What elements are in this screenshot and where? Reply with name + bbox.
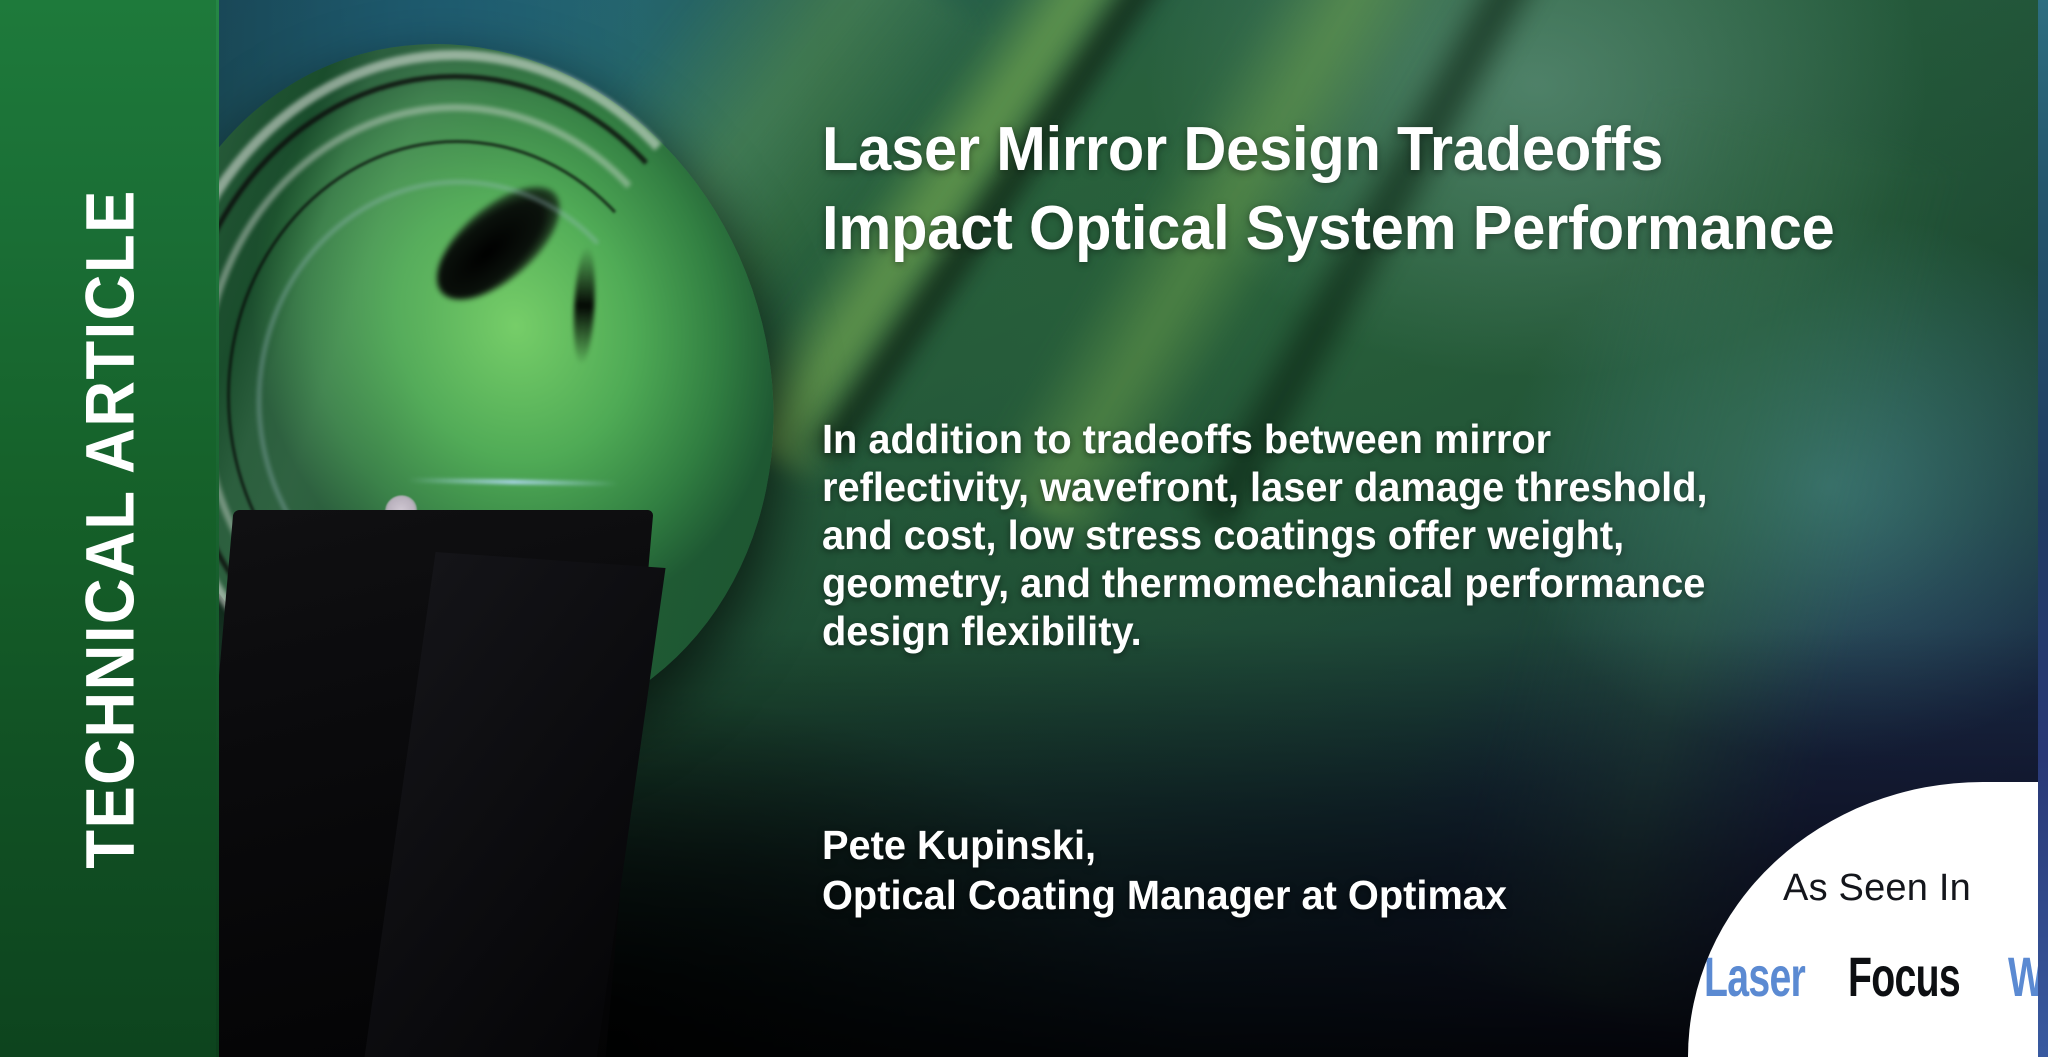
optic-reflection-streak [571, 246, 597, 365]
article-summary: In addition to tradeoffs between mirror … [822, 415, 1908, 655]
logo-word-world: World [2008, 949, 2038, 1005]
page-title-line-1: Laser Mirror Design Tradeoffs [822, 110, 1835, 189]
author-role: Optical Coating Manager at Optimax [822, 870, 1507, 920]
article-summary-line-1: In addition to tradeoffs between mirror [822, 415, 1908, 463]
optic-reflection-dark [418, 167, 578, 320]
rail-label: TECHNICAL ARTICLE [70, 189, 149, 868]
logo-word-laser: Laser [1704, 949, 1805, 1005]
author-byline: Pete Kupinski, Optical Coating Manager a… [822, 820, 1507, 920]
page-title: Laser Mirror Design Tradeoffs Impact Opt… [822, 110, 1835, 268]
author-name: Pete Kupinski, [822, 820, 1507, 870]
laser-focus-world-logo[interactable]: LaserFocusWorld® [1688, 944, 2038, 1005]
article-summary-line-2: reflectivity, wavefront, laser damage th… [822, 463, 1908, 511]
as-seen-in-heading: As Seen In [1688, 867, 2038, 910]
logo-word-focus: Focus [1848, 949, 1960, 1005]
article-summary-line-3: and cost, low stress coatings offer weig… [822, 511, 1908, 559]
optic-highlight-glint [408, 478, 618, 487]
article-summary-line-5: design flexibility. [822, 607, 1908, 655]
right-edge-strip [2038, 0, 2048, 1057]
technical-article-banner: TECHNICAL ARTICLE Laser Mirror Design Tr… [0, 0, 2048, 1057]
technical-article-rail: TECHNICAL ARTICLE [0, 0, 219, 1057]
laser-mirror-optic-photo [219, 40, 789, 770]
page-title-line-2: Impact Optical System Performance [822, 189, 1835, 268]
article-summary-line-4: geometry, and thermomechanical performan… [822, 559, 1908, 607]
